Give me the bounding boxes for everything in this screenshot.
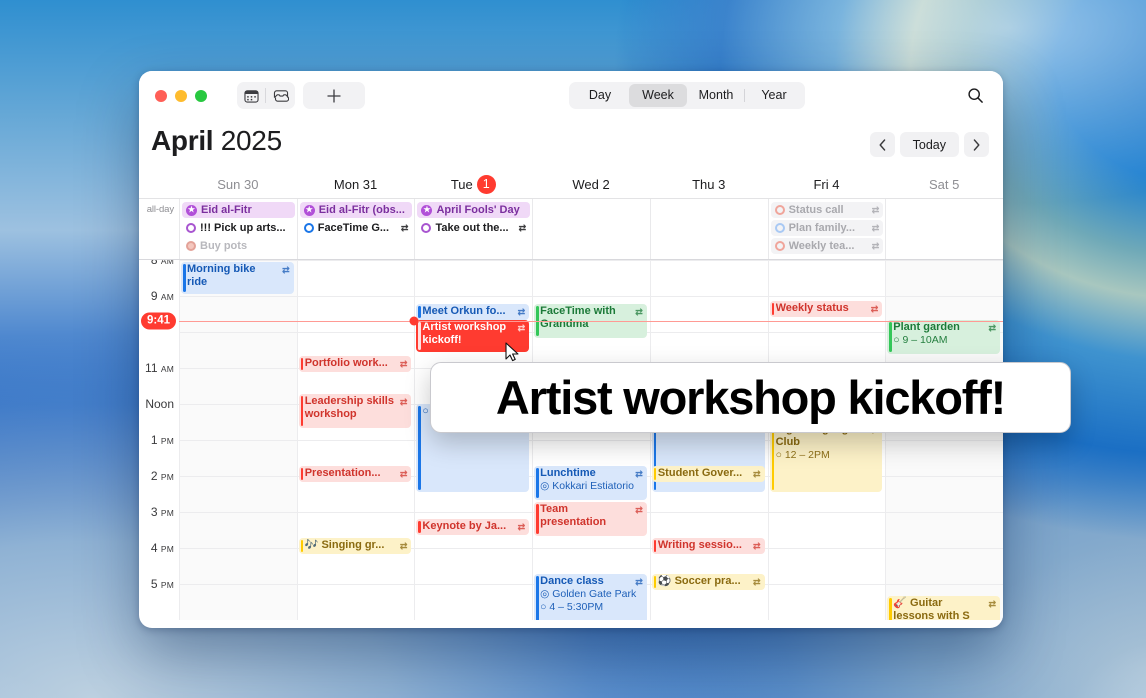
event-color-bar (183, 264, 186, 292)
year-label: 2025 (221, 125, 282, 156)
day-label: Fri 4 (813, 177, 839, 192)
all-day-column-fri[interactable]: Status call⇄Plan family...⇄Weekly tea...… (768, 199, 886, 259)
all-day-chip[interactable]: Weekly tea...⇄ (771, 238, 884, 254)
event-title: Weekly status (776, 302, 879, 315)
day-label: Sun 30 (217, 177, 258, 192)
repeat-icon: ⇄ (519, 223, 527, 234)
all-day-chip[interactable]: !!! Pick up arts... (182, 220, 295, 236)
calendar-event[interactable]: Student Gover...⇄ (652, 466, 765, 482)
traffic-lights (155, 90, 207, 102)
calendar-event[interactable]: Keynote by Ja...⇄ (416, 519, 529, 535)
repeat-icon: ⇄ (518, 521, 526, 534)
date-navigation: Today (870, 132, 989, 157)
repeat-icon: ⇄ (401, 223, 409, 234)
inbox-icon[interactable] (273, 89, 289, 103)
event-title: ⚽ Soccer pra... (658, 575, 761, 588)
repeat-icon: ⇄ (635, 504, 643, 517)
calendar-icon[interactable] (244, 89, 259, 103)
repeat-icon: ⇄ (400, 540, 408, 553)
gutter-spacer (139, 172, 179, 198)
event-meta: ◎ Golden Gate Park (540, 588, 643, 601)
view-switcher: Day Week Month Year (569, 82, 805, 109)
star-icon: ★ (186, 205, 197, 216)
all-day-column-sun[interactable]: ★Eid al-Fitr!!! Pick up arts...Buy pots (179, 199, 297, 259)
event-layer: Morning bike ride⇄Portfolio work...⇄Lead… (179, 260, 1003, 620)
repeat-icon: ⇄ (753, 540, 761, 553)
current-time-line (179, 321, 1003, 322)
repeat-icon: ⇄ (753, 576, 761, 589)
day-header-mon[interactable]: Mon 31 (297, 172, 415, 198)
calendar-event[interactable]: Leadership skills workshop⇄ (299, 394, 412, 428)
event-title: Presentation... (305, 467, 408, 480)
event-color-bar (654, 468, 657, 480)
event-color-bar (301, 396, 304, 426)
hour-label: 2 PM (139, 469, 179, 505)
calendar-event[interactable]: Dance class◎ Golden Gate Park○ 4 – 5:30P… (534, 574, 647, 620)
maximize-button[interactable] (195, 90, 207, 102)
circle-icon (304, 223, 314, 233)
toolbar-divider (265, 88, 266, 103)
close-button[interactable] (155, 90, 167, 102)
all-day-chip[interactable]: Plan family...⇄ (771, 220, 884, 236)
calendar-event[interactable]: 🎸 Guitar lessons with S⇄ (887, 596, 1000, 620)
all-day-chip-label: Take out the... (435, 222, 514, 234)
tab-day[interactable]: Day (571, 84, 629, 107)
event-title: Team presentation (540, 503, 643, 529)
calendar-event[interactable]: Weekly status⇄ (770, 301, 883, 317)
event-color-bar (418, 322, 421, 350)
previous-week-button[interactable] (870, 132, 895, 157)
all-day-label: all-day (139, 199, 179, 259)
current-time-badge: 9:41 (141, 312, 176, 329)
all-day-chip[interactable]: Take out the...⇄ (417, 220, 530, 236)
event-color-bar (536, 576, 539, 620)
repeat-icon: ⇄ (872, 241, 880, 252)
circle-icon (421, 223, 431, 233)
star-icon: ★ (304, 205, 315, 216)
all-day-chip-label: Eid al-Fitr (201, 204, 291, 216)
calendar-event[interactable]: Writing sessio...⇄ (652, 538, 765, 554)
day-header-row: Sun 30 Mon 31 Tue 1 Wed 2 Thu 3 Fri 4 Sa… (139, 172, 1003, 199)
search-icon[interactable] (962, 82, 989, 109)
event-meta: ◎ Kokkari Estiatorio (540, 480, 643, 493)
tab-week[interactable]: Week (629, 84, 687, 107)
tab-month[interactable]: Month (687, 84, 745, 107)
all-day-chip-label: Plan family... (789, 222, 868, 234)
day-label: Sat 5 (929, 177, 959, 192)
all-day-chip[interactable]: Buy pots (182, 238, 295, 254)
day-header-sat[interactable]: Sat 5 (885, 172, 1003, 198)
event-color-bar (301, 358, 304, 370)
hour-label: 1 PM (139, 433, 179, 469)
repeat-icon: ⇄ (988, 322, 996, 335)
hour-label: 5 PM (139, 577, 179, 613)
all-day-column-thu[interactable] (650, 199, 768, 259)
event-color-bar (772, 424, 775, 490)
toolbar-add-group (303, 82, 365, 109)
all-day-chip[interactable]: Status call⇄ (771, 202, 884, 218)
all-day-chip[interactable]: FaceTime G...⇄ (300, 220, 413, 236)
plus-icon[interactable] (326, 88, 342, 104)
day-label: Tue (451, 177, 473, 192)
event-color-bar (654, 540, 657, 552)
event-color-bar (772, 303, 775, 315)
toolbar-view-group (237, 82, 295, 109)
calendar-event[interactable]: Lunchtime◎ Kokkari Estiatorio⇄ (534, 466, 647, 500)
next-week-button[interactable] (964, 132, 989, 157)
event-title: Plant garden (893, 321, 996, 334)
calendar-event[interactable]: Presentation...⇄ (299, 466, 412, 482)
day-header-thu[interactable]: Thu 3 (650, 172, 768, 198)
repeat-icon: ⇄ (872, 205, 880, 216)
repeat-icon: ⇄ (282, 264, 290, 277)
calendar-event[interactable]: Team presentation⇄ (534, 502, 647, 536)
event-title: 🎶 Singing gr... (305, 539, 408, 552)
repeat-icon: ⇄ (872, 223, 880, 234)
event-meta: ○ 12 – 2PM (776, 449, 879, 462)
all-day-chip[interactable]: ★Eid al-Fitr (obs... (300, 202, 413, 218)
event-color-bar (418, 406, 421, 490)
circle-icon (775, 223, 785, 233)
event-title: FaceTime with Grandma (540, 305, 643, 331)
repeat-icon: ⇄ (518, 322, 526, 335)
day-header-tue[interactable]: Tue 1 (414, 172, 532, 198)
all-day-chip-label: Status call (789, 204, 868, 216)
repeat-icon: ⇄ (753, 468, 761, 481)
minimize-button[interactable] (175, 90, 187, 102)
event-title: Dance class (540, 575, 643, 588)
all-day-chip-label: Buy pots (200, 240, 291, 252)
all-day-row: all-day ★Eid al-Fitr!!! Pick up arts...B… (139, 199, 1003, 260)
event-title: Morning bike ride (187, 263, 290, 289)
hour-label: 3 PM (139, 505, 179, 541)
event-color-bar (889, 598, 892, 620)
all-day-chip[interactable]: ★April Fools' Day (417, 202, 530, 218)
event-title: Portfolio work... (305, 357, 408, 370)
event-color-bar (889, 322, 892, 352)
event-color-bar (536, 504, 539, 534)
all-day-chip-label: Weekly tea... (789, 240, 868, 252)
all-day-chip-label: FaceTime G... (318, 222, 397, 234)
all-day-column-wed[interactable] (532, 199, 650, 259)
day-label: Mon 31 (334, 177, 377, 192)
event-title: Meet Orkun fo... (422, 305, 525, 318)
calendar-event[interactable]: 🎶 Singing gr...⇄ (299, 538, 412, 554)
calendar-event[interactable]: Meet Orkun fo...⇄ (416, 304, 529, 320)
repeat-icon: ⇄ (400, 396, 408, 409)
all-day-chip-label: April Fools' Day (436, 204, 526, 216)
accessibility-zoom-callout: Artist workshop kickoff! (430, 362, 1071, 433)
all-day-column-tue[interactable]: ★April Fools' DayTake out the...⇄ (414, 199, 532, 259)
circle-icon (186, 223, 196, 233)
repeat-icon: ⇄ (400, 358, 408, 371)
repeat-icon: ⇄ (635, 306, 643, 319)
star-icon: ★ (421, 205, 432, 216)
event-meta: ○ 9 – 10AM (893, 334, 996, 347)
page-title: April 2025 (151, 125, 282, 157)
event-color-bar (418, 521, 421, 533)
event-title: Leadership skills workshop (305, 395, 408, 421)
window-titlebar: Day Week Month Year (139, 71, 1003, 120)
repeat-icon: ⇄ (988, 598, 996, 611)
calendar-event[interactable]: Portfolio work...⇄ (299, 356, 412, 372)
hour-label: 4 PM (139, 541, 179, 577)
event-color-bar (654, 576, 657, 588)
day-label: Wed 2 (572, 177, 609, 192)
event-color-bar (418, 306, 421, 318)
day-header-sun[interactable]: Sun 30 (179, 172, 297, 198)
calendar-event[interactable]: Plant garden○ 9 – 10AM⇄ (887, 320, 1000, 354)
event-title: Keynote by Ja... (422, 520, 525, 533)
time-grid: 8 AM9 AM11 AMNoon1 PM2 PM3 PM4 PM5 PM Mo… (139, 260, 1003, 620)
circle-icon (186, 241, 196, 251)
all-day-column-sat[interactable] (885, 199, 1003, 259)
event-color-bar (536, 468, 539, 498)
header-row: April 2025 Today (139, 120, 1003, 172)
hour-label: 8 AM (139, 260, 179, 289)
repeat-icon: ⇄ (518, 306, 526, 319)
hour-label: 11 AM (139, 361, 179, 397)
tab-year[interactable]: Year (745, 84, 803, 107)
current-time-dot (410, 316, 419, 325)
calendar-window: Day Week Month Year April 2025 Today Sun… (139, 71, 1003, 628)
event-title: Student Gover... (658, 467, 761, 480)
repeat-icon: ⇄ (635, 576, 643, 589)
all-day-chip-label: Eid al-Fitr (obs... (319, 204, 409, 216)
calendar-event[interactable]: Morning bike ride⇄ (181, 262, 294, 294)
day-label: Thu 3 (692, 177, 725, 192)
mouse-cursor (505, 342, 519, 363)
repeat-icon: ⇄ (400, 468, 408, 481)
event-color-bar (301, 468, 304, 480)
event-title: Lunchtime (540, 467, 643, 480)
repeat-icon: ⇄ (635, 468, 643, 481)
event-title: 🎸 Guitar lessons with S (893, 597, 996, 620)
calendar-event[interactable]: ⚽ Soccer pra...⇄ (652, 574, 765, 590)
event-meta: ○ 4 – 5:30PM (540, 601, 643, 614)
all-day-chip-label: !!! Pick up arts... (200, 222, 291, 234)
all-day-column-mon[interactable]: ★Eid al-Fitr (obs...FaceTime G...⇄ (297, 199, 415, 259)
circle-icon (775, 241, 785, 251)
month-label: April (151, 125, 213, 156)
repeat-icon: ⇄ (871, 303, 879, 316)
hour-label (139, 325, 179, 361)
event-title: Writing sessio... (658, 539, 761, 552)
event-color-bar (301, 540, 304, 552)
day-header-wed[interactable]: Wed 2 (532, 172, 650, 198)
today-date-badge: 1 (477, 175, 496, 194)
day-header-fri[interactable]: Fri 4 (768, 172, 886, 198)
all-day-chip[interactable]: ★Eid al-Fitr (182, 202, 295, 218)
circle-icon (775, 205, 785, 215)
hour-label: Noon (139, 397, 179, 433)
today-button[interactable]: Today (900, 132, 959, 157)
